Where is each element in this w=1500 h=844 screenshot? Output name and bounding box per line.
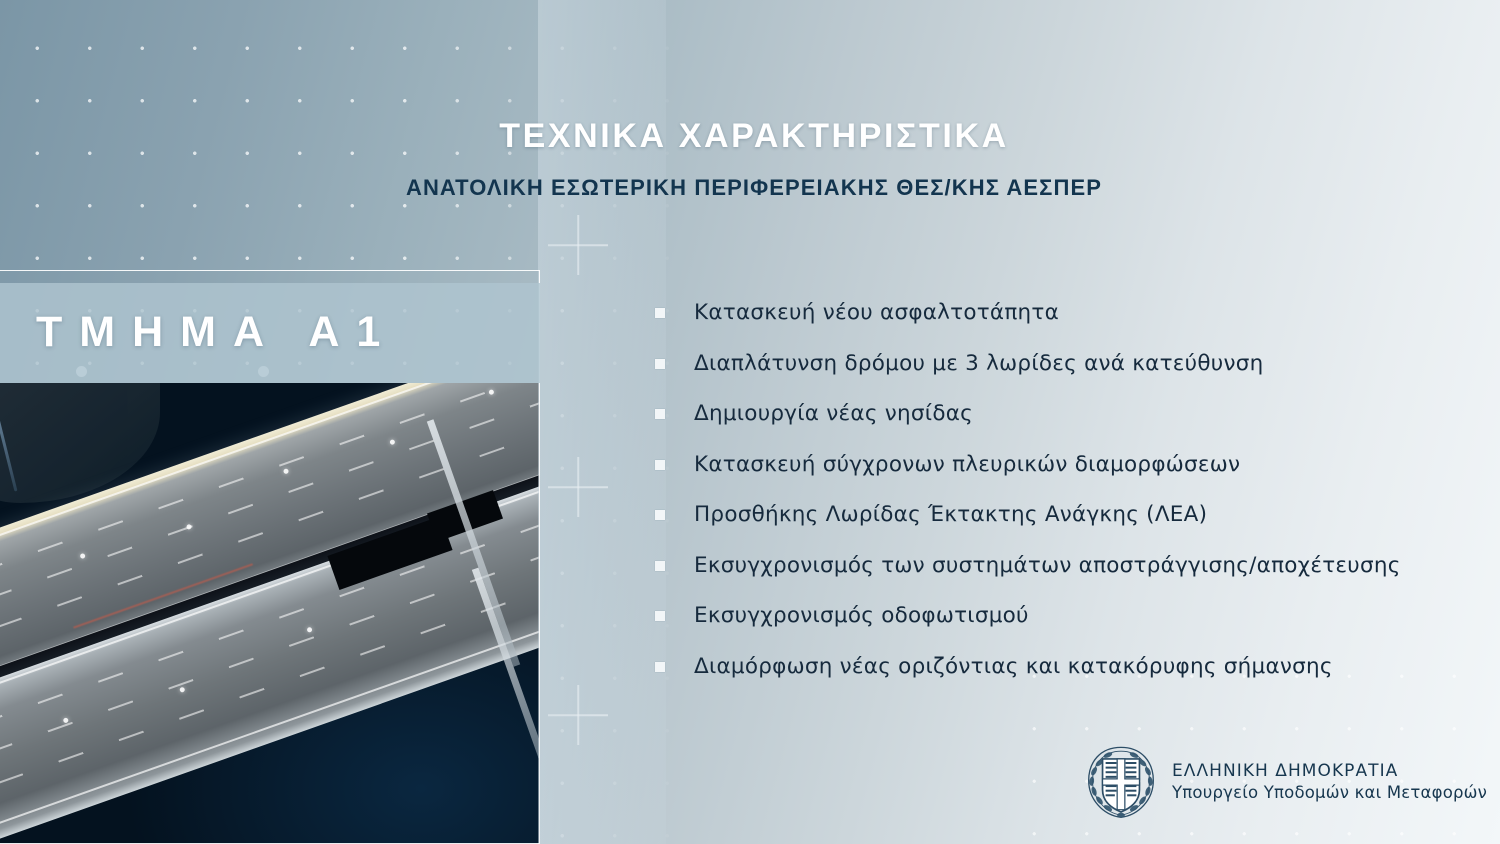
features-list: Κατασκευή νέου ασφαλτοτάπητα Διαπλάτυνση… [655,300,1445,704]
square-bullet-icon [655,561,665,571]
section-title: ΤΜΗΜΑ Α1 [36,300,397,364]
crosshair-marker [548,457,608,517]
list-item-label: Κατασκευή νέου ασφαλτοτάπητα [694,300,1059,326]
crosshair-marker [548,685,608,745]
square-bullet-icon [655,611,665,621]
list-item-label: Δημιουργία νέας νησίδας [694,401,973,427]
ministry-logo: ΕΛΛΗΝΙΚΗ ΔΗΜΟΚΡΑΤΙΑ Υπουργείο Υποδομών κ… [1082,742,1487,822]
list-item-label: Εκσυγχρονισμός των συστημάτων αποστράγγι… [694,553,1401,579]
list-item-label: Κατασκευή σύγχρονων πλευρικών διαμορφώσε… [694,452,1240,478]
square-bullet-icon [655,308,665,318]
hellenic-republic-coat-of-arms-icon [1082,742,1160,822]
list-item-label: Διαμόρφωση νέας οριζόντιας και κατακόρυφ… [694,654,1333,680]
list-item: Προσθήκης Λωρίδας Έκτακτης Ανάγκης (ΛΕΑ) [655,502,1445,528]
page-title: ΤΕΧΝΙΚΑ ΧΑΡΑΚΤΗΡΙΣΤΙΚΑ [0,117,1500,156]
square-bullet-icon [655,460,665,470]
list-item: Κατασκευή σύγχρονων πλευρικών διαμορφώσε… [655,452,1445,478]
square-bullet-icon [655,662,665,672]
presentation-slide: ΤΜΗΜΑ Α1 ΤΕΧΝΙΚΑ ΧΑΡΑΚΤΗΡΙΣΤΙΚΑ ΑΝΑΤΟΛΙΚ… [0,0,1500,844]
list-item: Εκσυγχρονισμός οδοφωτισμού [655,603,1445,629]
list-item: Δημιουργία νέας νησίδας [655,401,1445,427]
logo-line-republic: ΕΛΛΗΝΙΚΗ ΔΗΜΟΚΡΑΤΙΑ [1172,760,1487,782]
crosshair-marker [548,215,608,275]
logo-line-ministry: Υπουργείο Υποδομών και Μεταφορών [1172,782,1487,804]
square-bullet-icon [655,409,665,419]
list-item-label: Διαπλάτυνση δρόμου με 3 λωρίδες ανά κατε… [694,351,1263,377]
photo-shore-road [0,383,17,492]
list-item-label: Εκσυγχρονισμός οδοφωτισμού [694,603,1029,629]
square-bullet-icon [655,359,665,369]
list-item: Κατασκευή νέου ασφαλτοτάπητα [655,300,1445,326]
list-item-label: Προσθήκης Λωρίδας Έκτακτης Ανάγκης (ΛΕΑ) [694,502,1207,528]
square-bullet-icon [655,510,665,520]
aerial-night-highway-photo [0,383,540,844]
page-subtitle: ΑΝΑΤΟΛΙΚΗ ΕΣΩΤΕΡΙΚΗ ΠΕΡΙΦΕΡΕΙΑΚΗΣ ΘΕΣ/ΚΗ… [0,175,1500,201]
list-item: Εκσυγχρονισμός των συστημάτων αποστράγγι… [655,553,1445,579]
ministry-logo-text: ΕΛΛΗΝΙΚΗ ΔΗΜΟΚΡΑΤΙΑ Υπουργείο Υποδομών κ… [1172,760,1487,804]
list-item: Διαμόρφωση νέας οριζόντιας και κατακόρυφ… [655,654,1445,680]
list-item: Διαπλάτυνση δρόμου με 3 λωρίδες ανά κατε… [655,351,1445,377]
